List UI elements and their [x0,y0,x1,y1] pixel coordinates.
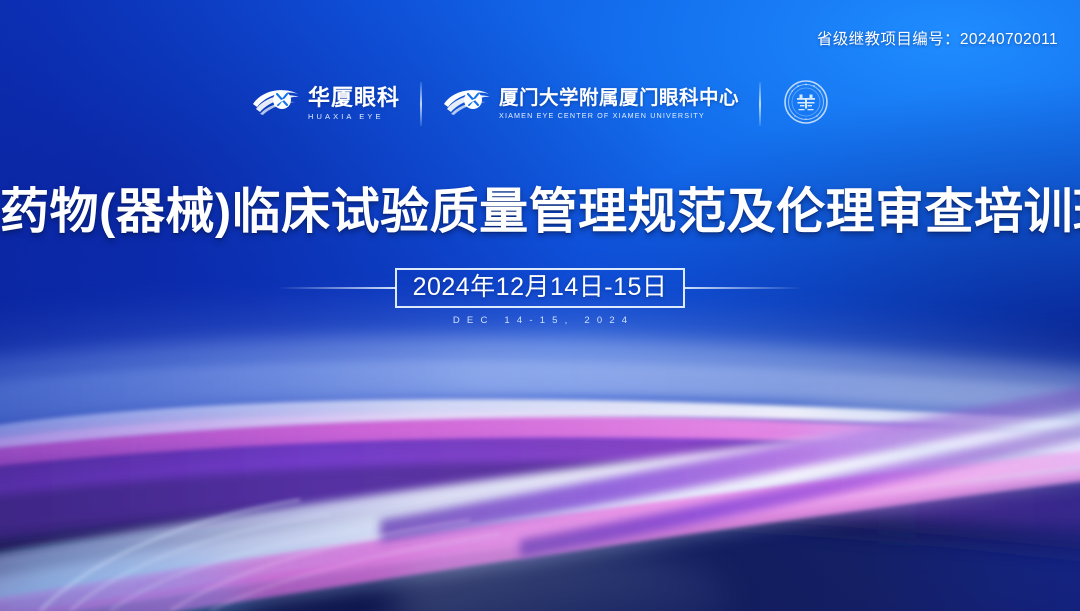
logo-huaxia-eye: 华厦眼科 HUAXIA EYE [251,85,400,124]
date-cn: 2024年12月14日-15日 [413,273,668,301]
logo-xiamen-text: 厦门大学附属厦门眼科中心 XIAMEN EYE CENTER OF XIAMEN… [499,89,739,120]
logo-row: 华厦眼科 HUAXIA EYE 厦门大学附属厦门眼科中心 XIAMEN EYE … [0,78,1080,130]
date-en: DEC 14-15, 2024 [446,315,635,326]
eye-icon [442,85,492,124]
conference-poster: 省级继教项目编号：20240702011 华厦眼科 HUAXIA EYE [0,0,1080,611]
logo-xiamen-eye-center: 厦门大学附属厦门眼科中心 XIAMEN EYE CENTER OF XIAMEN… [442,85,739,124]
date-line-row: 2024年12月14日-15日 [0,268,1080,308]
logo-divider-1 [420,82,422,126]
project-code: 省级继教项目编号：20240702011 [817,27,1058,49]
circular-seal-icon [783,79,829,130]
page-title: 药物(器械)临床试验质量管理规范及伦理审查培训班 [0,186,1080,239]
logo-huaxia-name-en: HUAXIA EYE [308,113,400,121]
date-rule-left [278,287,396,289]
logo-divider-2 [759,82,761,126]
eye-icon [251,85,301,124]
logo-xiamen-name-en: XIAMEN EYE CENTER OF XIAMEN UNIVERSITY [499,112,739,119]
date-block: 2024年12月14日-15日 DEC 14-15, 2024 [0,268,1080,326]
date-box: 2024年12月14日-15日 [395,268,686,308]
logo-huaxia-name-cn: 华厦眼科 [308,87,400,109]
logo-xiamen-name-cn: 厦门大学附属厦门眼科中心 [499,89,739,109]
logo-huaxia-text: 华厦眼科 HUAXIA EYE [308,87,400,121]
date-rule-right [684,287,802,289]
